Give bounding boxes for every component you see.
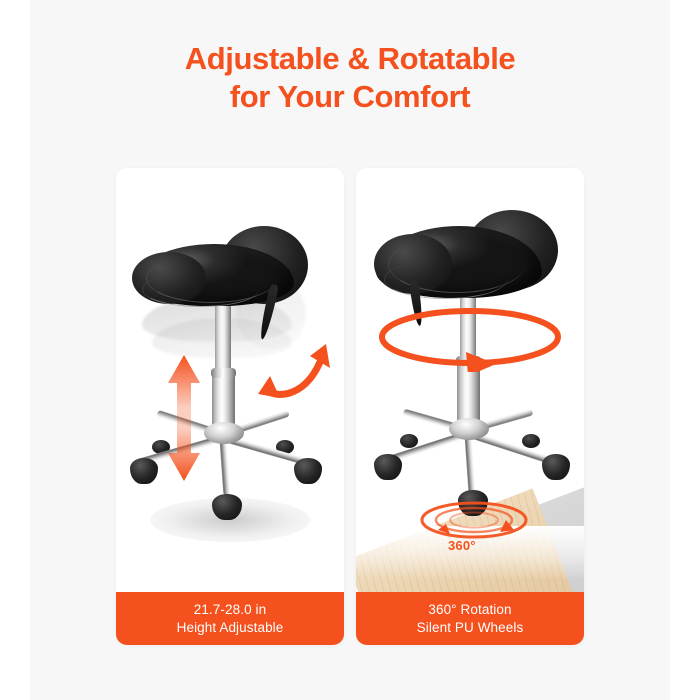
rotation-ring-icon xyxy=(370,302,570,372)
caster-front-left xyxy=(374,454,402,480)
caption-line-1: 21.7-28.0 in xyxy=(194,601,267,619)
seat-lower-piping xyxy=(384,260,507,299)
caster-back-right xyxy=(522,434,540,448)
base-hub xyxy=(449,418,489,440)
rotation-degree-label: 360° xyxy=(448,538,476,553)
caption-line-2: Silent PU Wheels xyxy=(417,619,524,637)
up-down-arrow-icon xyxy=(164,353,204,483)
caster-front-right xyxy=(542,454,570,480)
caption-bar-height: 21.7-28.0 in Height Adjustable xyxy=(116,592,344,645)
caption-bar-rotation: 360° Rotation Silent PU Wheels xyxy=(356,592,584,645)
caption-line-1: 360° Rotation xyxy=(428,601,511,619)
curved-tilt-arrow-icon xyxy=(254,328,344,408)
caster-front-right xyxy=(294,458,322,484)
seat-lower-piping xyxy=(142,272,259,307)
caster-back-left xyxy=(400,434,418,448)
rotation-wheels-illustration: 360° xyxy=(356,168,584,592)
gas-cylinder-collar xyxy=(211,368,236,378)
page-title: Adjustable & Rotatable for Your Comfort xyxy=(0,40,700,116)
page-title-line-2: for Your Comfort xyxy=(0,78,700,116)
caster-front-center xyxy=(212,494,242,520)
page-title-line-1: Adjustable & Rotatable xyxy=(0,40,700,78)
feature-panel-height-adjustable: 21.7-28.0 in Height Adjustable xyxy=(116,168,344,645)
base-leg-center-front xyxy=(465,435,476,493)
caster-front-left xyxy=(130,458,158,484)
product-feature-image: Adjustable & Rotatable for Your Comfort xyxy=(0,0,700,700)
base-hub xyxy=(204,422,244,444)
feature-panel-rotation-wheels: 360° 360° Rotation Silent PU Wheels xyxy=(356,168,584,645)
caster-rotation-ring-icon xyxy=(414,494,534,544)
base-leg-center-front xyxy=(220,439,231,495)
gas-cylinder-piston xyxy=(215,296,231,374)
height-adjustable-illustration xyxy=(116,168,344,592)
caption-line-2: Height Adjustable xyxy=(177,619,284,637)
